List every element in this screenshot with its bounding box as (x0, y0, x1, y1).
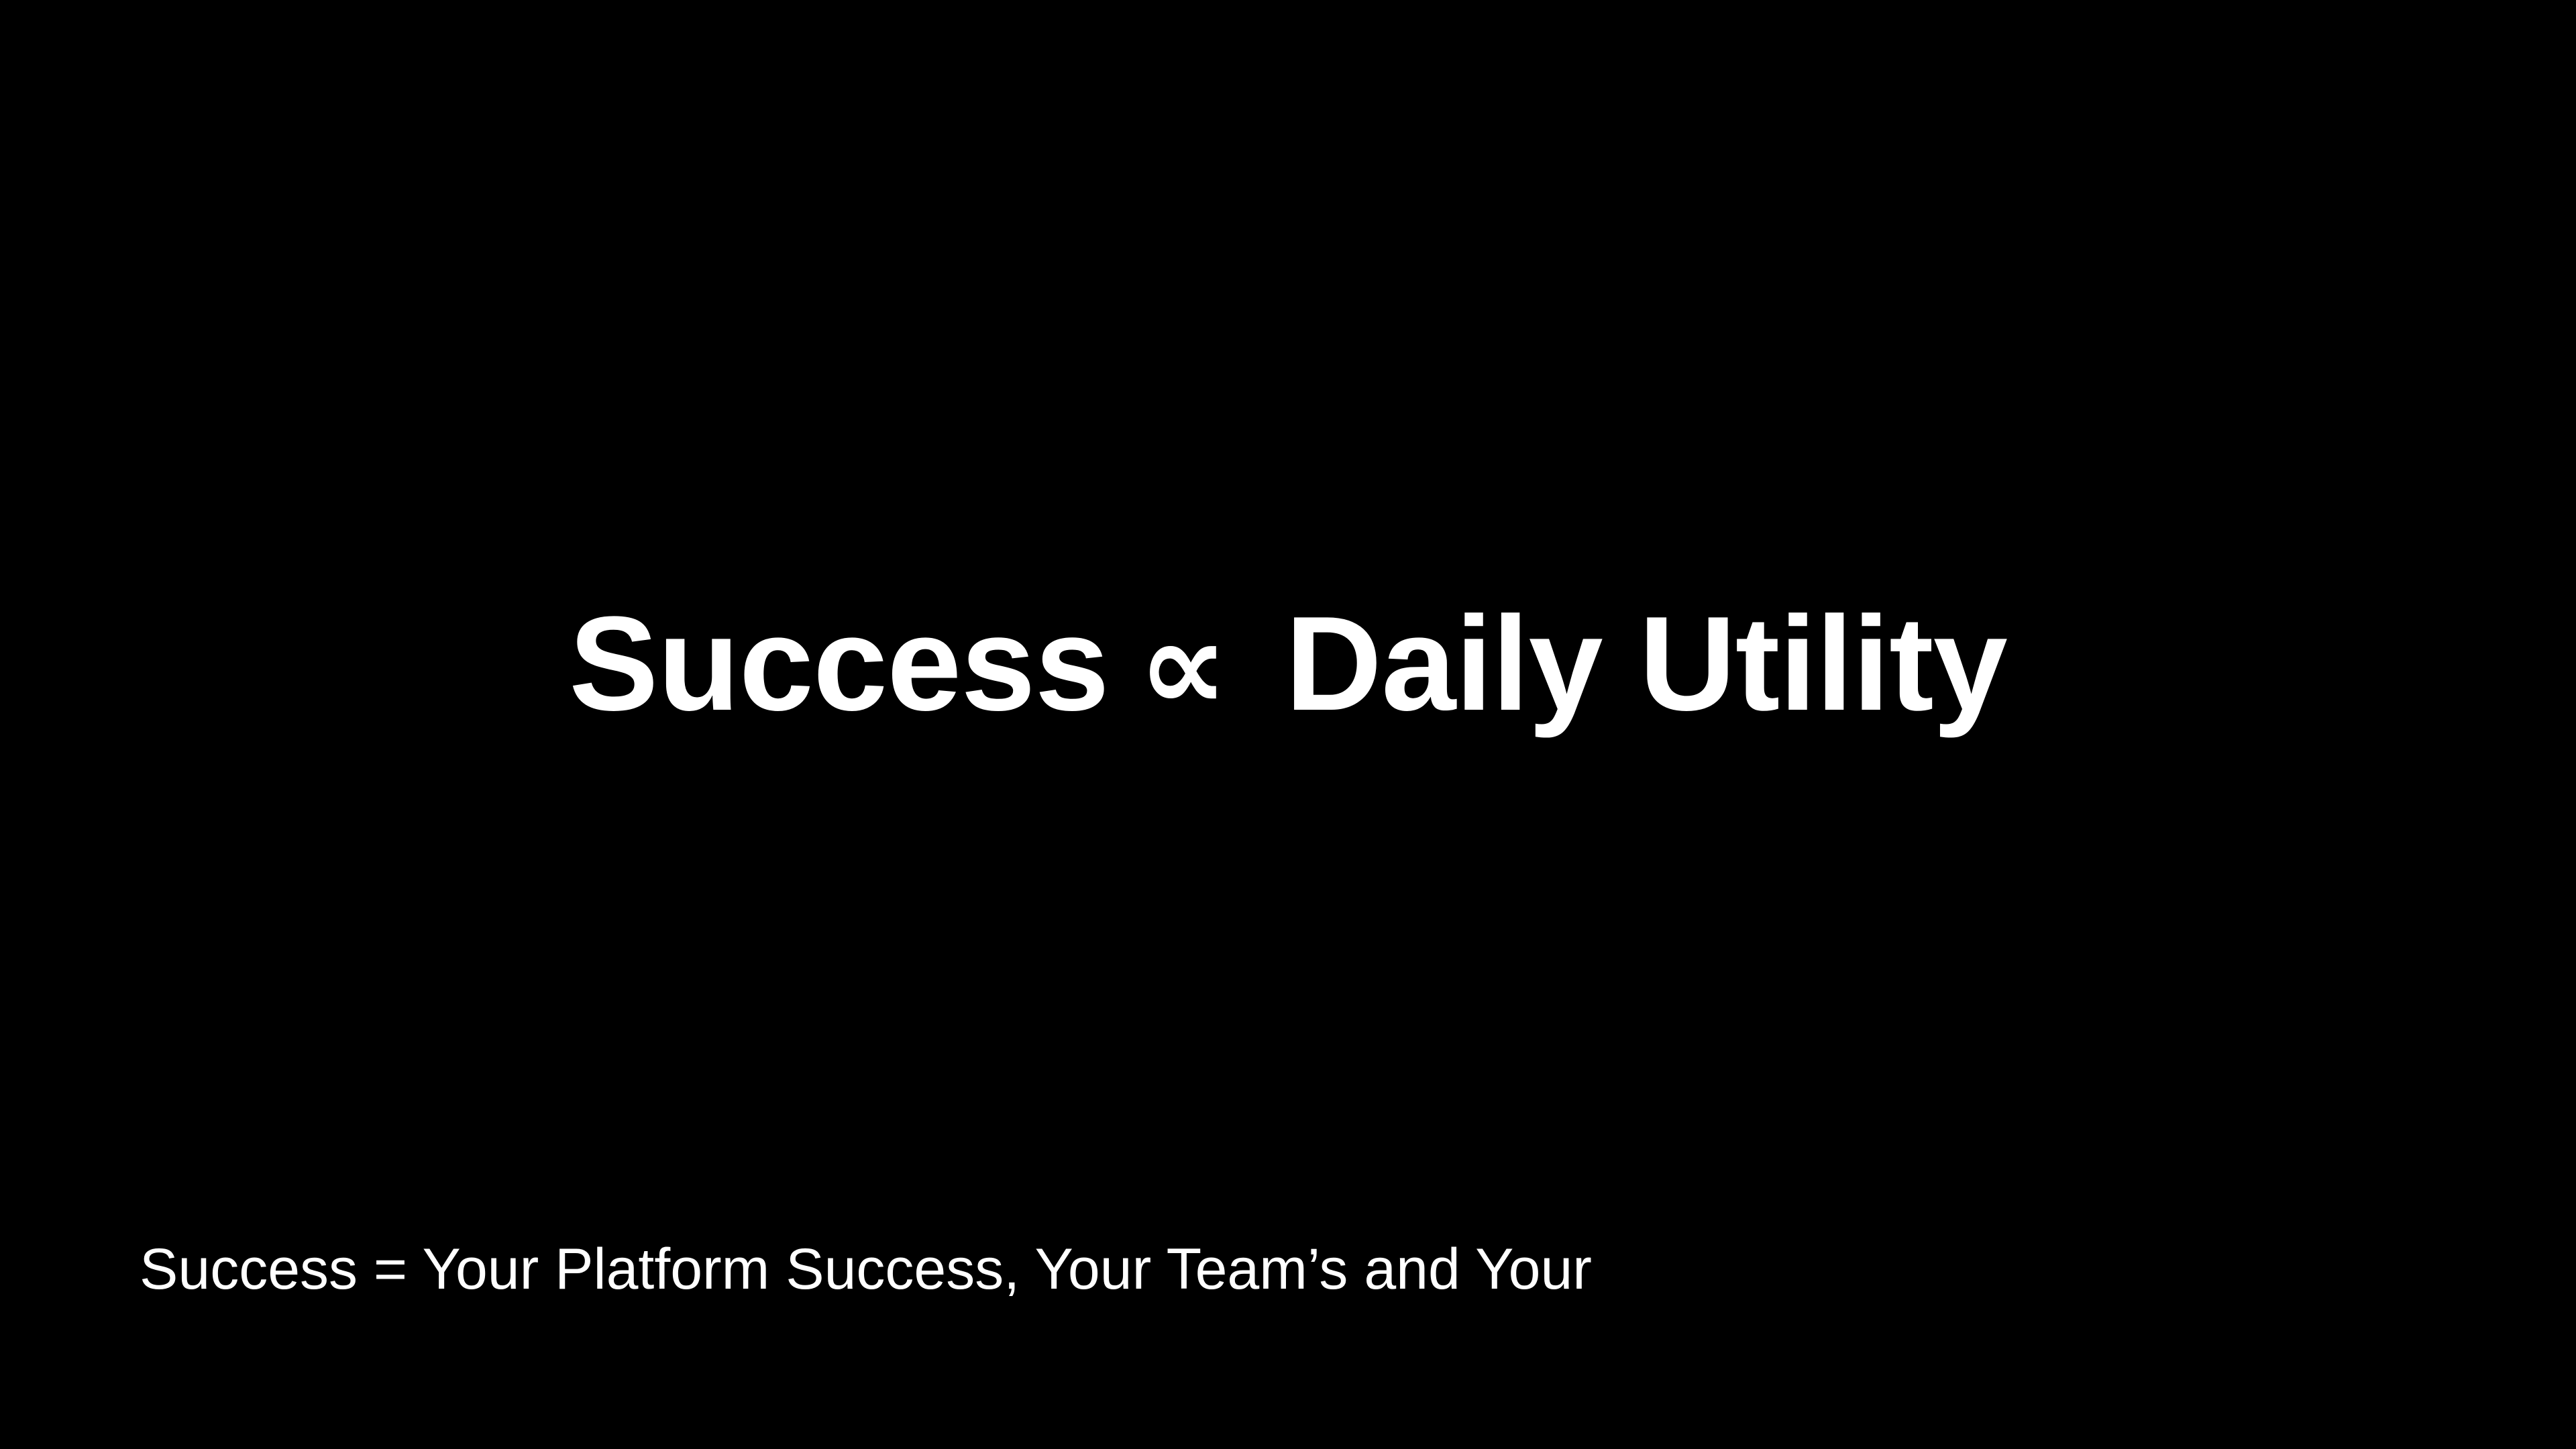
headline-container: Success∝Daily Utility (0, 577, 2576, 751)
caption-definition-line: Success = Your Platform Success, Your Te… (140, 1238, 1592, 1301)
headline-left-term: Success (569, 589, 1109, 739)
slide-canvas: Success∝Daily Utility Success = Your Pla… (0, 0, 2576, 1449)
page-title: Success∝Daily Utility (569, 594, 2007, 735)
headline-right-term: Daily Utility (1285, 589, 2007, 739)
proportional-to-icon: ∝ (1138, 596, 1228, 737)
